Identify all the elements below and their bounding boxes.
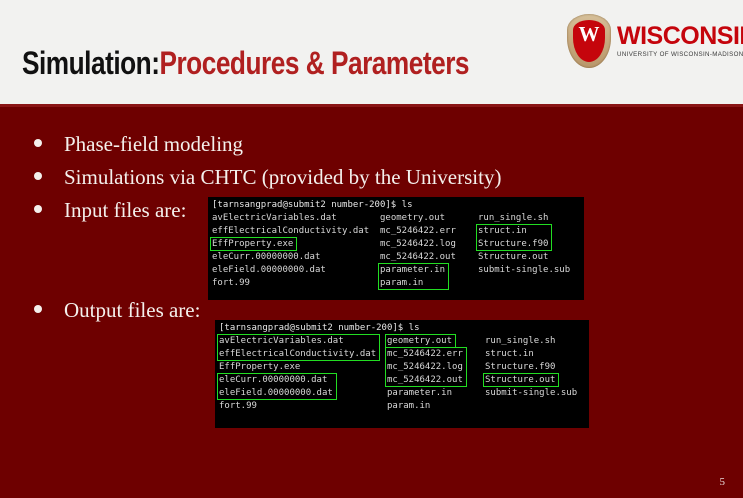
bullet-item-input-files: Input files are: [34, 198, 186, 223]
terminal-file-entry: eleCurr.00000000.dat [212, 251, 369, 264]
terminal-file-entry: mc_5246422.out [387, 374, 463, 387]
terminal-file-entry: eleCurr.00000000.dat [219, 374, 376, 387]
crest-w-letter: W [565, 24, 613, 45]
title-part-1: Simulation: [22, 45, 159, 81]
terminal-column: avElectricVariables.dateffElectricalCond… [219, 335, 376, 413]
terminal-file-entry: mc_5246422.out [380, 251, 456, 264]
page-number: 5 [720, 476, 726, 489]
terminal-file-entry: mc_5246422.err [380, 225, 456, 238]
bullet-item-chtc: Simulations via CHTC (provided by the Un… [34, 165, 501, 190]
bullet-label: Output files are: [64, 298, 200, 323]
page-title: Simulation:Procedures & Parameters [22, 44, 469, 82]
bullet-label: Phase-field modeling [64, 132, 243, 157]
slide-root: Simulation:Procedures & Parameters W WIS… [0, 0, 743, 498]
title-part-2: Procedures & Parameters [159, 45, 469, 81]
bullet-dot-icon [34, 205, 42, 213]
terminal-column: run_single.shstruct.inStructure.f90Struc… [485, 335, 577, 400]
terminal-file-entry: geometry.out [387, 335, 463, 348]
bullet-label: Input files are: [64, 198, 186, 223]
terminal-file-entry: run_single.sh [478, 212, 570, 225]
bullet-dot-icon [34, 139, 42, 147]
input-files-terminal: [tarnsangprad@submit2 number-200]$ lsavE… [208, 197, 584, 300]
terminal-file-entry: avElectricVariables.dat [212, 212, 369, 225]
terminal-file-entry: mc_5246422.log [380, 238, 456, 251]
terminal-prompt: [tarnsangprad@submit2 number-200]$ ls [212, 199, 412, 212]
terminal-file-entry: eleField.00000000.dat [219, 387, 376, 400]
terminal-file-entry: run_single.sh [485, 335, 577, 348]
terminal-prompt: [tarnsangprad@submit2 number-200]$ ls [219, 322, 419, 335]
terminal-file-entry: struct.in [478, 225, 570, 238]
logo-text-group: WISCONSIN UNIVERSITY OF WISCONSIN-MADISO… [617, 23, 743, 59]
terminal-file-entry: Structure.f90 [485, 361, 577, 374]
terminal-file-entry: Structure.out [478, 251, 570, 264]
terminal-file-entry: submit-single.sub [485, 387, 577, 400]
terminal-file-entry: fort.99 [219, 400, 376, 413]
terminal-file-entry: effElectricalConductivity.dat [212, 225, 369, 238]
terminal-file-entry: eleField.00000000.dat [212, 264, 369, 277]
terminal-file-entry: effElectricalConductivity.dat [219, 348, 376, 361]
terminal-file-entry: EffProperty.exe [219, 361, 376, 374]
terminal-file-entry: avElectricVariables.dat [219, 335, 376, 348]
terminal-file-entry: geometry.out [380, 212, 456, 225]
terminal-file-entry: Structure.f90 [478, 238, 570, 251]
terminal-file-entry: struct.in [485, 348, 577, 361]
bullet-item-phase-field: Phase-field modeling [34, 132, 243, 157]
terminal-file-entry: parameter.in [387, 387, 463, 400]
terminal-column: run_single.shstruct.inStructure.f90Struc… [478, 212, 570, 277]
header-divider [0, 104, 743, 107]
terminal-file-entry: param.in [387, 400, 463, 413]
output-files-terminal: [tarnsangprad@submit2 number-200]$ lsavE… [215, 320, 589, 428]
terminal-column: avElectricVariables.dateffElectricalCond… [212, 212, 369, 290]
bullet-dot-icon [34, 305, 42, 313]
logo-subtitle: UNIVERSITY OF WISCONSIN-MADISON [617, 50, 743, 59]
terminal-column: geometry.outmc_5246422.errmc_5246422.log… [387, 335, 463, 413]
uw-crest-icon: W [565, 12, 613, 70]
uw-madison-logo: W WISCONSIN UNIVERSITY OF WISCONSIN-MADI… [565, 10, 735, 72]
terminal-file-entry: Structure.out [485, 374, 577, 387]
terminal-file-entry: submit-single.sub [478, 264, 570, 277]
terminal-file-entry: parameter.in [380, 264, 456, 277]
terminal-file-entry: EffProperty.exe [212, 238, 369, 251]
bullet-item-output-files: Output files are: [34, 298, 200, 323]
terminal-file-entry: mc_5246422.log [387, 361, 463, 374]
terminal-file-entry: param.in [380, 277, 456, 290]
bullet-dot-icon [34, 172, 42, 180]
bullet-label: Simulations via CHTC (provided by the Un… [64, 165, 501, 190]
terminal-column: geometry.outmc_5246422.errmc_5246422.log… [380, 212, 456, 290]
terminal-file-entry: fort.99 [212, 277, 369, 290]
logo-wordmark: WISCONSIN [617, 23, 743, 49]
terminal-file-entry: mc_5246422.err [387, 348, 463, 361]
